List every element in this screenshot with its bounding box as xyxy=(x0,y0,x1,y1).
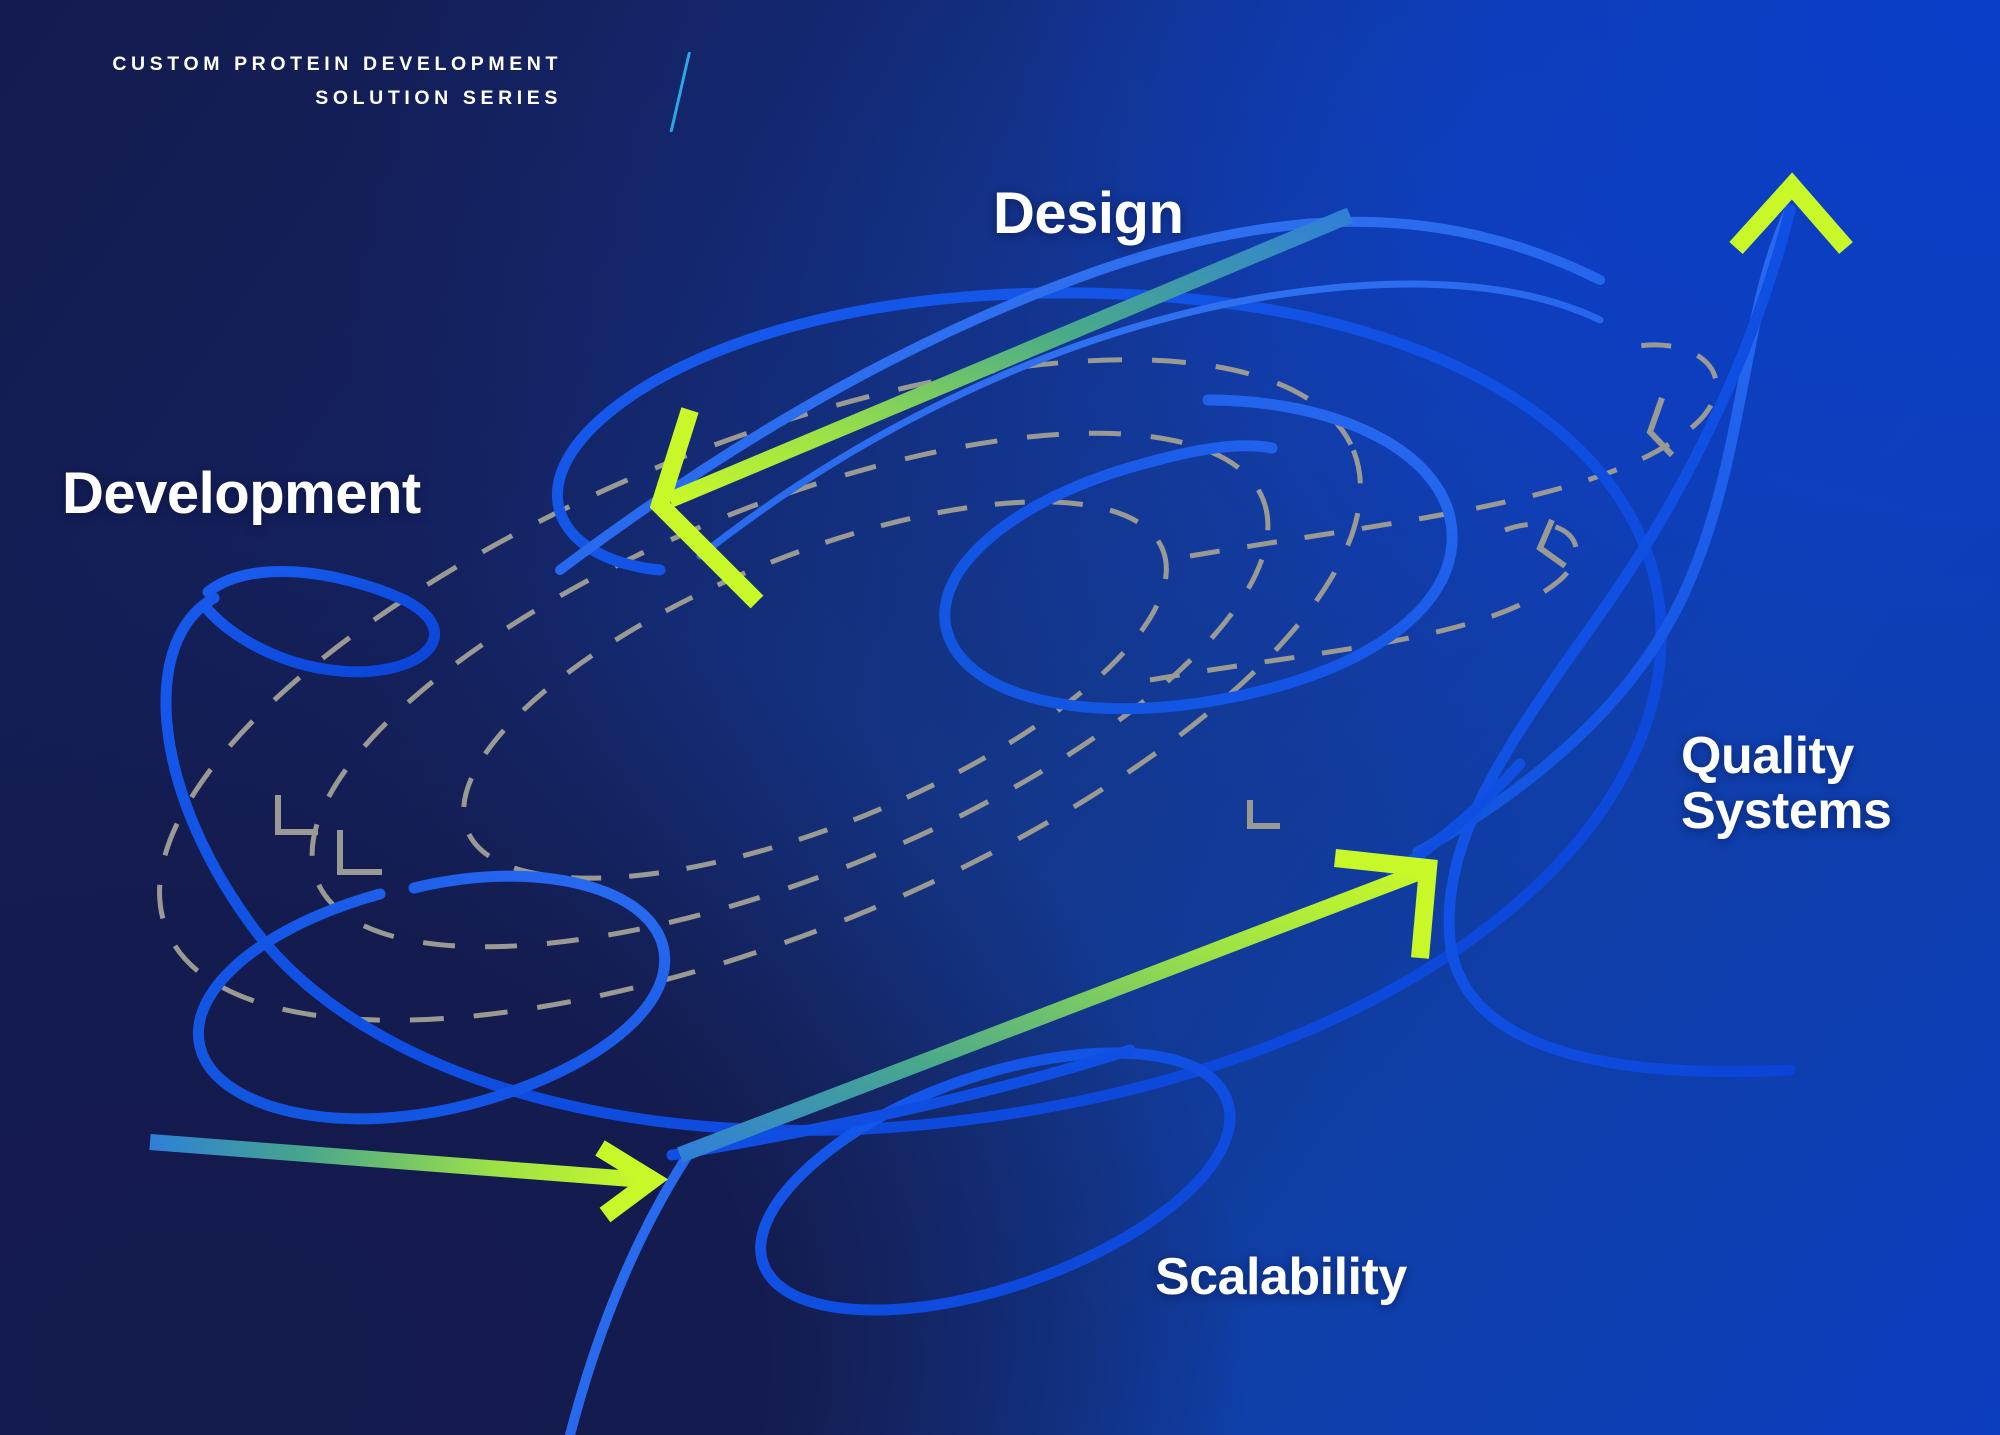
dashed-ellipse-outer xyxy=(75,223,1445,1157)
label-scalability: Scalability xyxy=(1155,1250,1407,1305)
blue-swirl-group xyxy=(166,210,1790,1435)
label-design: Design xyxy=(993,183,1183,244)
hero-graphic: CUSTOM PROTEIN DEVELOPMENT SOLUTION SERI… xyxy=(0,0,2000,1435)
dashed-ellipse-middle xyxy=(248,327,1332,1052)
label-quality-systems: Quality Systems xyxy=(1681,729,1891,839)
arrow-to-scalability xyxy=(150,1142,652,1215)
swirl-top-ribbon xyxy=(560,222,1600,570)
swirl-outer-companion xyxy=(700,284,1600,556)
swirl-development-loop xyxy=(208,571,435,671)
eyebrow-heading: CUSTOM PROTEIN DEVELOPMENT SOLUTION SERI… xyxy=(58,48,658,115)
dash-corner-ticks xyxy=(278,398,1672,872)
tick-left-lower xyxy=(340,830,382,872)
tick-left-upper xyxy=(278,795,318,832)
arrow-to-development xyxy=(660,215,1350,602)
tick-center-low xyxy=(1250,800,1280,826)
swirl-left-ellipse xyxy=(198,876,664,1119)
label-development: Development xyxy=(62,463,421,524)
swirl-right-lower-tail xyxy=(1449,210,1790,1072)
